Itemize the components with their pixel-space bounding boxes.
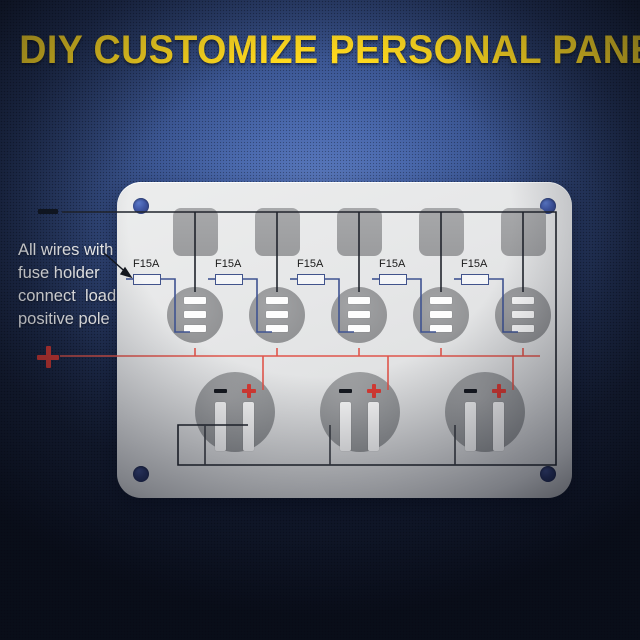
- fuse-holder-1: [133, 274, 161, 285]
- switch-body-2[interactable]: [249, 287, 305, 343]
- page-title: DIY CUSTOMIZE PERSONAL PANEL: [19, 28, 621, 72]
- screenshot-root: DIY CUSTOMIZE PERSONAL PANEL All wires w…: [0, 0, 640, 640]
- socket-2-slot-positive: [368, 402, 379, 451]
- switch-terminal-top-1: [184, 297, 206, 304]
- switch-panel: F15A F15A F15A F15A F15A: [117, 182, 572, 498]
- socket-3-slot-negative: [465, 402, 476, 451]
- socket-2[interactable]: [320, 372, 400, 452]
- switch-body-1[interactable]: [167, 287, 223, 343]
- switch-terminal-mid-3: [348, 311, 370, 318]
- socket-2-slot-negative: [340, 402, 351, 451]
- switch-terminal-bottom-4: [430, 325, 452, 332]
- fuse-label-1: F15A: [133, 258, 159, 270]
- fuse-label-5: F15A: [461, 258, 487, 270]
- switch-terminal-mid-5: [512, 311, 534, 318]
- socket-1-slot-negative: [215, 402, 226, 451]
- socket-3-plus-label: [492, 384, 506, 398]
- switch-terminal-top-2: [266, 297, 288, 304]
- socket-1-plus-label: [242, 384, 256, 398]
- rocker-face-5[interactable]: [501, 208, 546, 256]
- mount-hole-top-left: [133, 198, 149, 214]
- switch-terminal-bottom-1: [184, 325, 206, 332]
- switch-terminal-bottom-5: [512, 325, 534, 332]
- fuse-label-3: F15A: [297, 258, 323, 270]
- fuse-label-4: F15A: [379, 258, 405, 270]
- switch-terminal-mid-4: [430, 311, 452, 318]
- socket-3-slot-positive: [493, 402, 504, 451]
- switch-terminal-top-3: [348, 297, 370, 304]
- fuse-holder-3: [297, 274, 325, 285]
- socket-1-minus-label: [214, 389, 227, 393]
- socket-3-minus-label: [464, 389, 477, 393]
- switch-body-3[interactable]: [331, 287, 387, 343]
- socket-3[interactable]: [445, 372, 525, 452]
- mount-hole-bottom-right: [540, 466, 556, 482]
- rocker-face-2[interactable]: [255, 208, 300, 256]
- fuse-holder-2: [215, 274, 243, 285]
- switch-body-5[interactable]: [495, 287, 551, 343]
- fuse-holder-5: [461, 274, 489, 285]
- switch-terminal-bottom-3: [348, 325, 370, 332]
- switch-terminal-mid-2: [266, 311, 288, 318]
- rocker-face-3[interactable]: [337, 208, 382, 256]
- switch-terminal-bottom-2: [266, 325, 288, 332]
- positive-terminal-symbol: [37, 346, 59, 368]
- socket-1-slot-positive: [243, 402, 254, 451]
- rocker-face-4[interactable]: [419, 208, 464, 256]
- socket-2-minus-label: [339, 389, 352, 393]
- rocker-face-1[interactable]: [173, 208, 218, 256]
- switch-terminal-top-5: [512, 297, 534, 304]
- switch-terminal-top-4: [430, 297, 452, 304]
- mount-hole-bottom-left: [133, 466, 149, 482]
- socket-2-plus-label: [367, 384, 381, 398]
- fuse-holder-4: [379, 274, 407, 285]
- socket-1[interactable]: [195, 372, 275, 452]
- negative-terminal-symbol: [38, 209, 58, 214]
- switch-body-4[interactable]: [413, 287, 469, 343]
- fuse-label-2: F15A: [215, 258, 241, 270]
- switch-terminal-mid-1: [184, 311, 206, 318]
